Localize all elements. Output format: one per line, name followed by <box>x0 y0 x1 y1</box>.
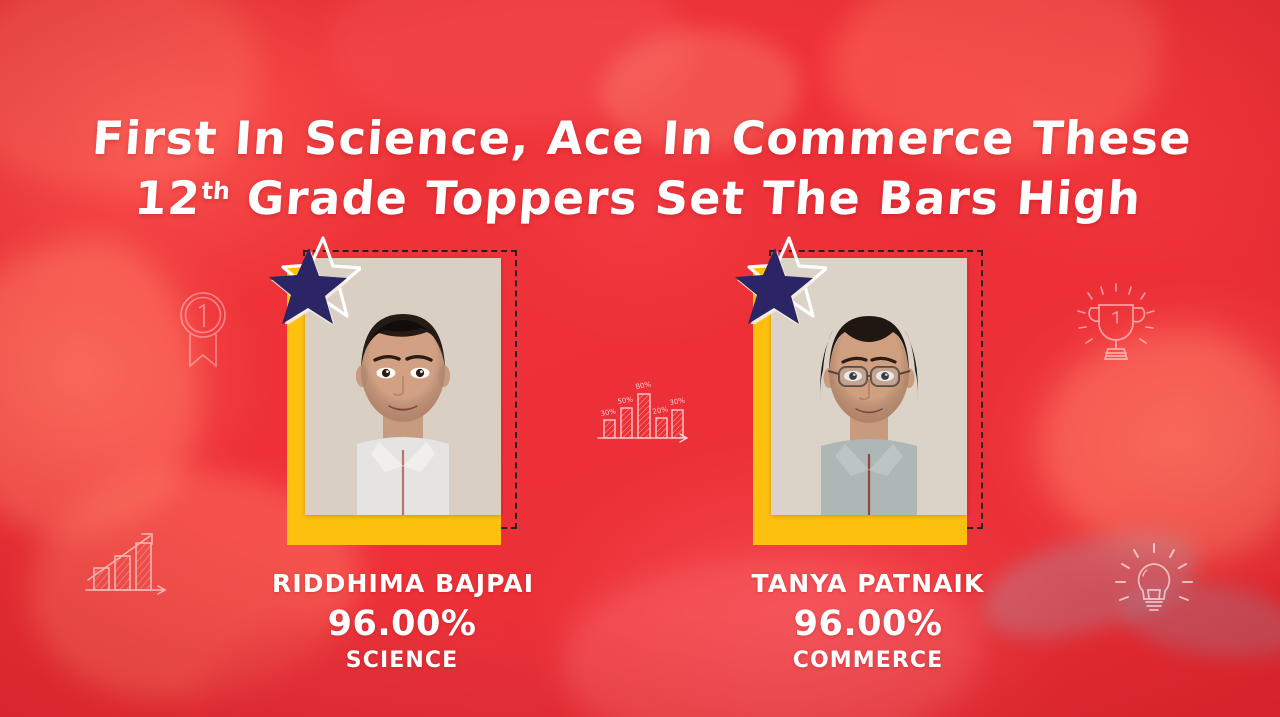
student-card: RIDDHIMA BAJPAI 96.00% SCIENCE <box>272 258 532 673</box>
student-score: 96.00% <box>738 604 998 644</box>
student-photo <box>305 258 501 515</box>
headline-grade-number: 12 <box>133 171 203 225</box>
poster-headline: First In Science, Ace In Commerce These … <box>0 109 1280 229</box>
student-details: RIDDHIMA BAJPAI 96.00% SCIENCE <box>272 569 532 673</box>
headline-line-2-rest: Grade Toppers Set The Bars High <box>228 171 1144 225</box>
student-score: 96.00% <box>272 604 532 644</box>
student-details: TANYA PATNAIK 96.00% COMMERCE <box>738 569 998 673</box>
photo-frame <box>753 258 983 543</box>
student-name: TANYA PATNAIK <box>738 569 998 598</box>
headline-line-2: 12th Grade Toppers Set The Bars High <box>0 169 1280 229</box>
background-vignette <box>0 0 1280 717</box>
student-name: RIDDHIMA BAJPAI <box>272 569 532 598</box>
student-photo <box>771 258 967 515</box>
student-stream: SCIENCE <box>272 648 532 673</box>
headline-grade-ordinal: th <box>201 177 231 205</box>
student-card: TANYA PATNAIK 96.00% COMMERCE <box>738 258 998 673</box>
student-stream: COMMERCE <box>738 648 998 673</box>
headline-line-1: First In Science, Ace In Commerce These <box>0 109 1280 169</box>
topper-announcement-poster: First In Science, Ace In Commerce These … <box>0 0 1280 717</box>
photo-frame <box>287 258 517 543</box>
